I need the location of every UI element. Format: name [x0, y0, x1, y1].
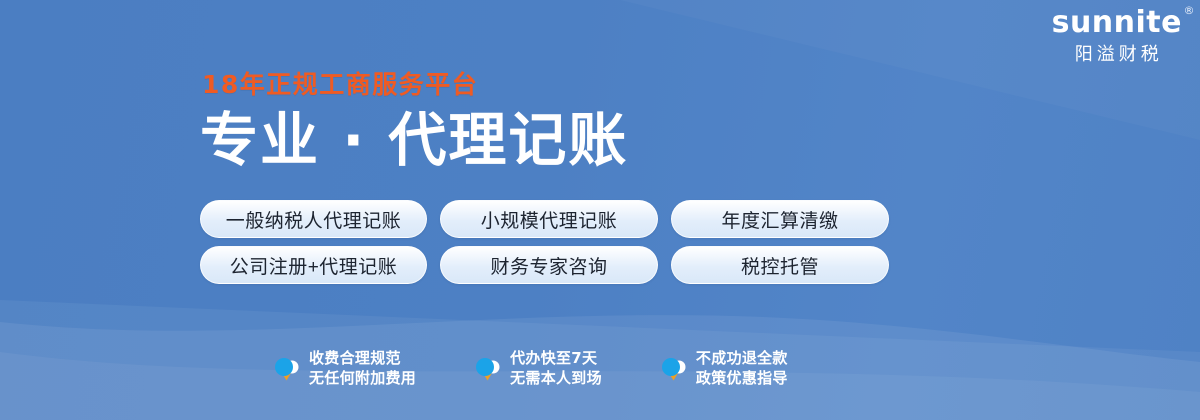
service-pill-general-taxpayer[interactable]: 一般纳税人代理记账: [200, 200, 427, 238]
feature-text-speed: 代办快至7天 无需本人到场: [510, 350, 602, 388]
service-pill-small-scale[interactable]: 小规模代理记账: [440, 200, 658, 238]
promo-banner: sunnite ® 阳溢财税 18年正规工商服务平台 专业 · 代理记账 一般纳…: [0, 0, 1200, 420]
service-pill-row-2: 公司注册+代理记账 财务专家咨询 税控托管: [200, 246, 889, 284]
feature-line-1: 收费合理规范: [309, 350, 416, 367]
service-pill-row-1: 一般纳税人代理记账 小规模代理记账 年度汇算清缴: [200, 200, 889, 238]
feature-item-pricing: 收费合理规范 无任何附加费用: [273, 350, 416, 388]
feature-strip: 收费合理规范 无任何附加费用 代办快至7天 无需本人到场: [273, 350, 788, 388]
logo-wordmark-text: sunnite: [1052, 5, 1182, 40]
service-pill-company-registration[interactable]: 公司注册+代理记账: [200, 246, 427, 284]
eyebrow-text: 18年正规工商服务平台: [202, 72, 628, 97]
logo-wordmark: sunnite ®: [1052, 8, 1182, 38]
brand-logo: sunnite ® 阳溢财税: [1052, 8, 1182, 63]
service-pill-finance-consulting[interactable]: 财务专家咨询: [440, 246, 658, 284]
page-title: 专业 · 代理记账: [200, 111, 628, 169]
moon-dot-icon: [474, 353, 501, 384]
feature-item-speed: 代办快至7天 无需本人到场: [474, 350, 602, 388]
service-pill-annual-settlement[interactable]: 年度汇算清缴: [671, 200, 889, 238]
feature-item-guarantee: 不成功退全款 政策优惠指导: [660, 350, 788, 388]
headline-block: 18年正规工商服务平台 专业 · 代理记账: [200, 72, 628, 169]
service-pill-grid: 一般纳税人代理记账 小规模代理记账 年度汇算清缴 公司注册+代理记账 财务专家咨…: [200, 200, 889, 284]
feature-text-pricing: 收费合理规范 无任何附加费用: [309, 350, 416, 388]
moon-dot-icon: [273, 353, 300, 384]
moon-dot-icon: [660, 353, 687, 384]
logo-subtitle: 阳溢财税: [1052, 45, 1182, 63]
feature-line-2: 政策优惠指导: [696, 370, 788, 387]
feature-line-1: 代办快至7天: [510, 350, 602, 367]
feature-line-2: 无需本人到场: [510, 370, 602, 387]
feature-line-1: 不成功退全款: [696, 350, 788, 367]
service-pill-tax-control-hosting[interactable]: 税控托管: [671, 246, 889, 284]
feature-line-2: 无任何附加费用: [309, 370, 416, 387]
feature-text-guarantee: 不成功退全款 政策优惠指导: [696, 350, 788, 388]
registered-trademark-icon: ®: [1184, 5, 1196, 16]
